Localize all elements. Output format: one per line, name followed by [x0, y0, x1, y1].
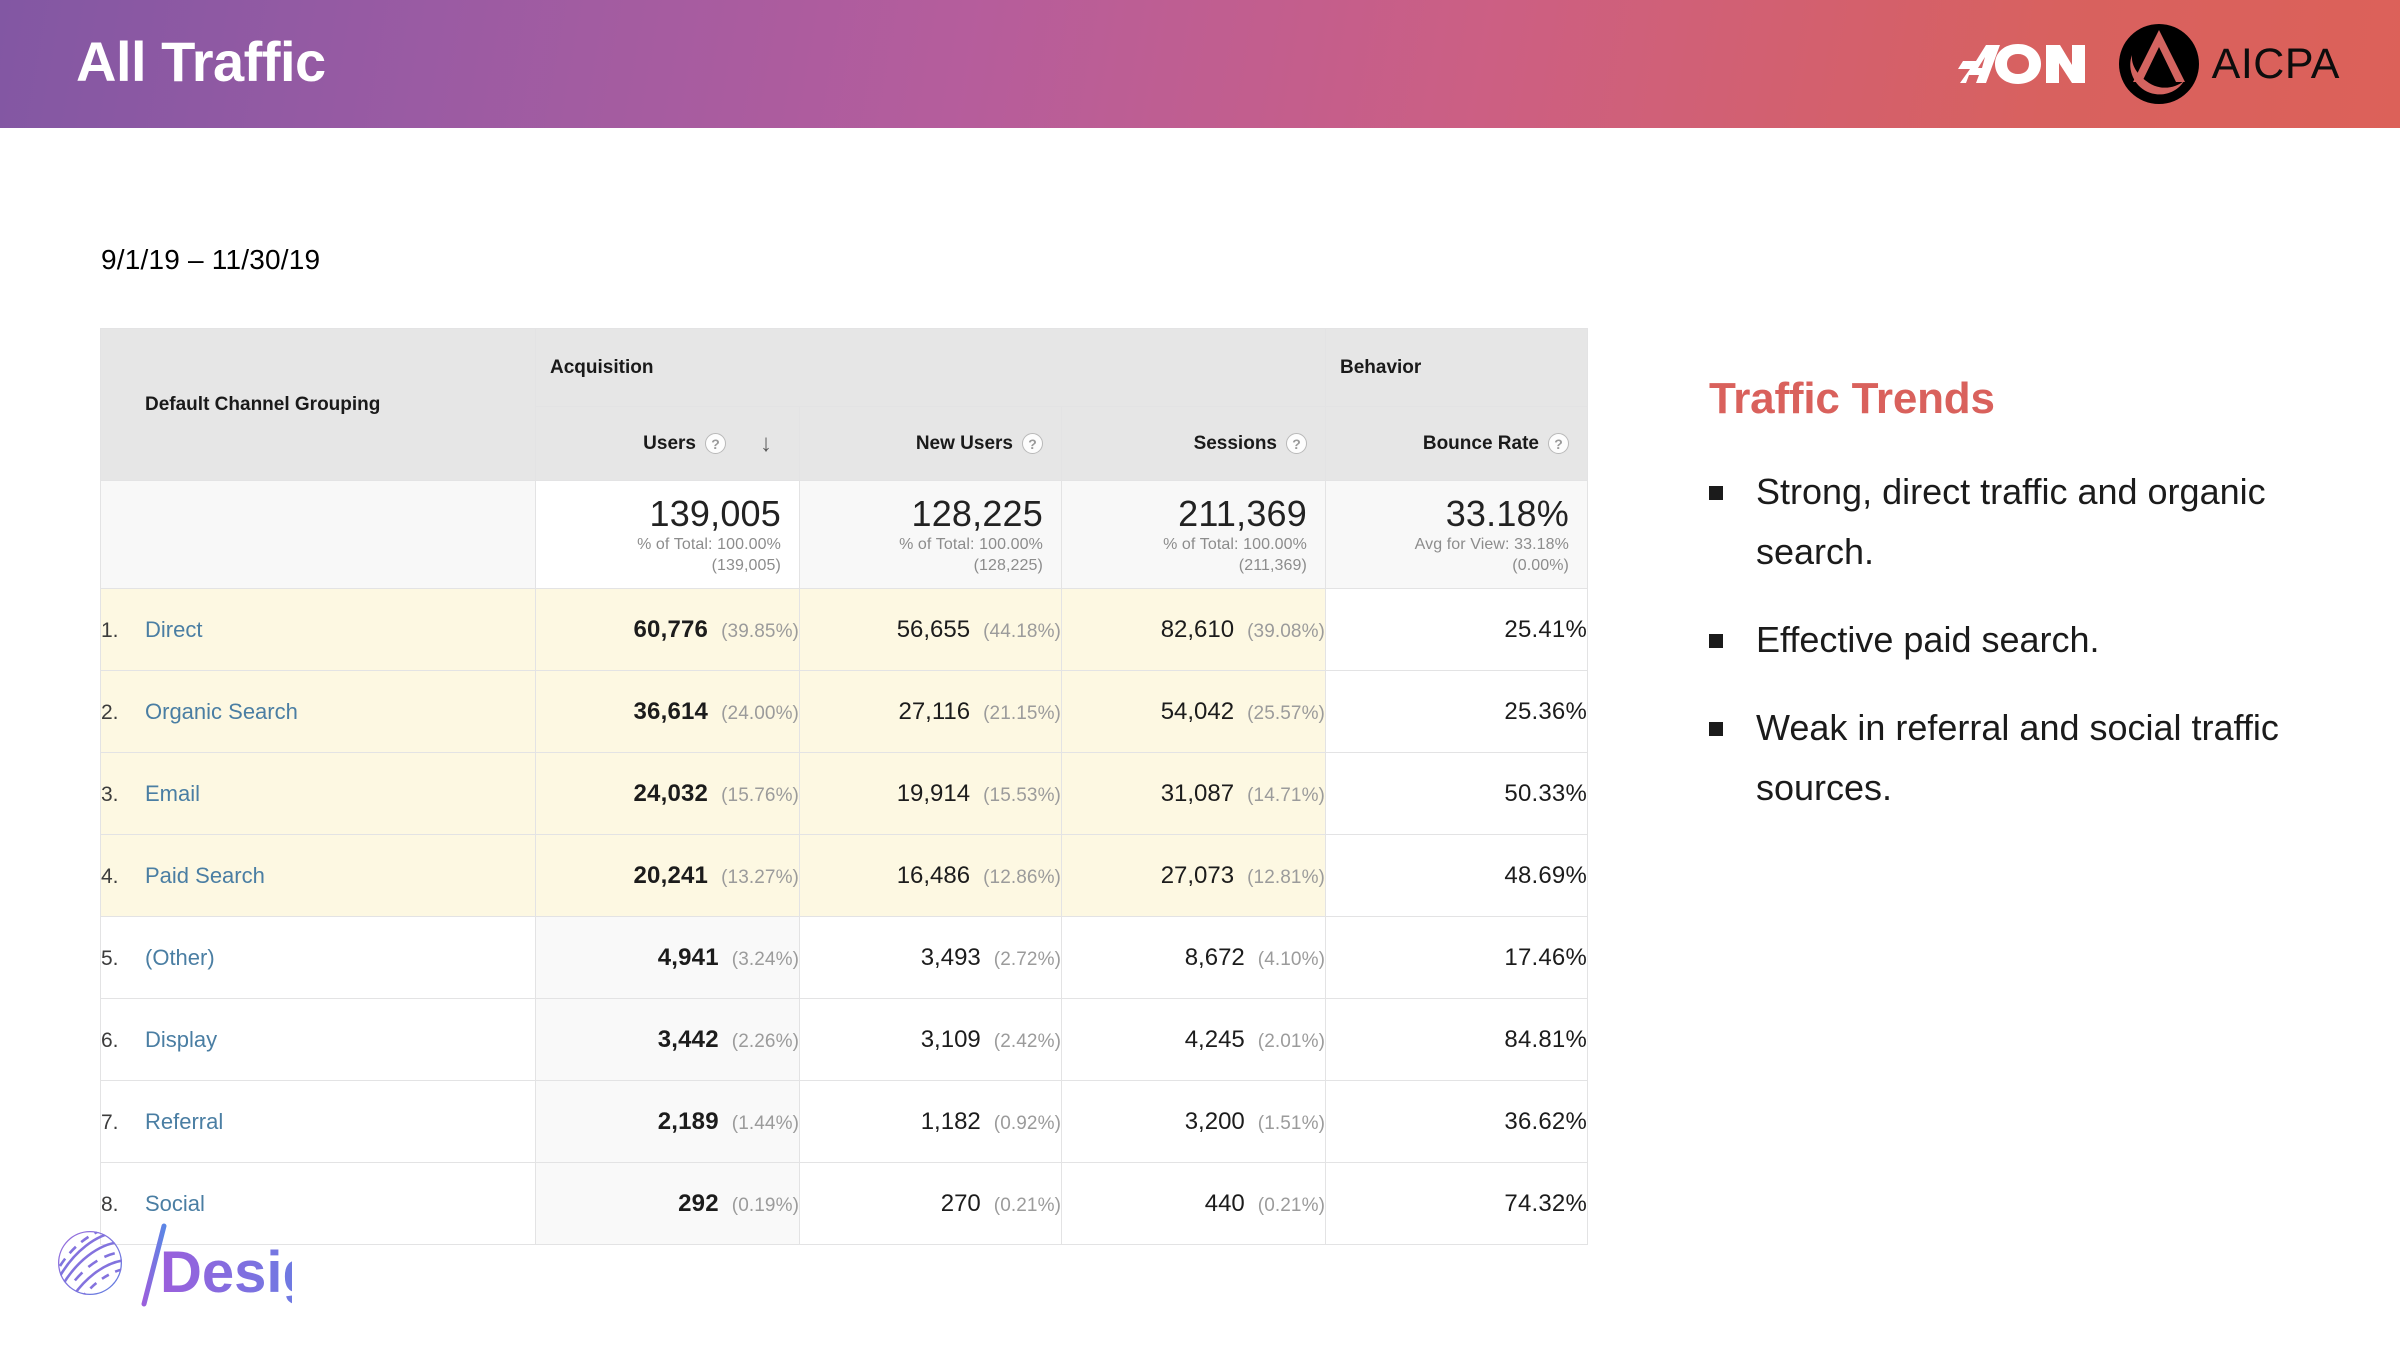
row-bounce-rate-cell: 74.32%	[1326, 1163, 1588, 1245]
table-row: 5.(Other)4,941(3.24%)3,493(2.72%)8,672(4…	[101, 917, 1588, 999]
row-users-cell-value: 292	[678, 1190, 719, 1217]
row-users-cell-percent: (13.27%)	[721, 867, 799, 888]
row-sessions-cell-value: 27,073	[1161, 862, 1234, 889]
row-bounce-rate-value: 17.46%	[1504, 944, 1587, 971]
row-users-cell-value: 60,776	[633, 616, 708, 643]
help-icon[interactable]: ?	[1286, 433, 1307, 454]
column-group-behavior: Behavior	[1326, 329, 1588, 407]
column-header-bounce-rate[interactable]: Bounce Rate ?	[1326, 407, 1588, 481]
row-rank: 4.	[101, 865, 145, 889]
square-bullet-icon	[1709, 486, 1723, 500]
column-header-channel-grouping[interactable]: Default Channel Grouping	[101, 329, 536, 481]
totals-new-users-cell: 128,225 % of Total: 100.00% (128,225)	[800, 481, 1062, 589]
totals-bounce-rate-abs: (0.00%)	[1336, 555, 1569, 576]
row-channel-cell: 7.Referral	[101, 1081, 536, 1163]
row-channel-cell: 4.Paid Search	[101, 835, 536, 917]
design-logo: Design	[52, 1218, 292, 1308]
row-bounce-rate-value: 25.41%	[1504, 616, 1587, 643]
help-icon[interactable]: ?	[1548, 433, 1569, 454]
channel-link[interactable]: Organic Search	[145, 699, 298, 724]
totals-new-users-abs: (128,225)	[810, 555, 1043, 576]
table-row: 4.Paid Search20,241(13.27%)16,486(12.86%…	[101, 835, 1588, 917]
table-row: 7.Referral2,189(1.44%)1,182(0.92%)3,200(…	[101, 1081, 1588, 1163]
totals-users-abs: (139,005)	[546, 555, 781, 576]
row-bounce-rate-cell: 25.41%	[1326, 589, 1588, 671]
list-item: Strong, direct traffic and organic searc…	[1709, 462, 2329, 582]
row-channel-cell: 2.Organic Search	[101, 671, 536, 753]
row-new-users-cell: 1,182(0.92%)	[800, 1081, 1062, 1163]
table-totals-row: 139,005 % of Total: 100.00% (139,005) 12…	[101, 481, 1588, 589]
aicpa-logo: AICPA	[2116, 21, 2340, 107]
row-users-cell: 4,941(3.24%)	[536, 917, 800, 999]
row-sessions-cell: 440(0.21%)	[1062, 1163, 1326, 1245]
list-item: Effective paid search.	[1709, 610, 2329, 670]
row-bounce-rate-cell: 17.46%	[1326, 917, 1588, 999]
row-sessions-cell-percent: (4.10%)	[1258, 949, 1325, 970]
row-new-users-cell-percent: (2.42%)	[994, 1031, 1061, 1052]
list-item: Weak in referral and social traffic sour…	[1709, 698, 2329, 818]
row-bounce-rate-cell: 48.69%	[1326, 835, 1588, 917]
row-users-cell-percent: (0.19%)	[732, 1195, 799, 1216]
row-new-users-cell: 56,655(44.18%)	[800, 589, 1062, 671]
row-rank: 7.	[101, 1111, 145, 1135]
row-users-cell-value: 36,614	[633, 698, 708, 725]
row-sessions-cell: 3,200(1.51%)	[1062, 1081, 1326, 1163]
row-sessions-cell-value: 3,200	[1185, 1108, 1245, 1135]
totals-sessions-pct: % of Total: 100.00%	[1072, 534, 1307, 555]
row-new-users-cell-percent: (12.86%)	[983, 867, 1061, 888]
row-bounce-rate-value: 36.62%	[1504, 1108, 1587, 1135]
list-item-text: Strong, direct traffic and organic searc…	[1756, 462, 2329, 582]
row-sessions-cell-percent: (25.57%)	[1247, 703, 1325, 724]
row-sessions-cell: 4,245(2.01%)	[1062, 999, 1326, 1081]
page-title: All Traffic	[76, 26, 326, 98]
row-sessions-cell-percent: (39.08%)	[1247, 621, 1325, 642]
header-logo-group: AICPA	[1956, 0, 2340, 128]
row-users-cell-percent: (24.00%)	[721, 703, 799, 724]
row-channel-cell: 1.Direct	[101, 589, 536, 671]
row-rank: 3.	[101, 783, 145, 807]
row-users-cell-percent: (2.26%)	[732, 1031, 799, 1052]
row-bounce-rate-value: 48.69%	[1504, 862, 1587, 889]
row-new-users-cell-value: 3,493	[921, 944, 981, 971]
row-bounce-rate-cell: 84.81%	[1326, 999, 1588, 1081]
table-row: 1.Direct60,776(39.85%)56,655(44.18%)82,6…	[101, 589, 1588, 671]
column-header-sessions[interactable]: Sessions ?	[1062, 407, 1326, 481]
row-bounce-rate-cell: 50.33%	[1326, 753, 1588, 835]
row-users-cell-value: 24,032	[633, 780, 708, 807]
totals-users-value: 139,005	[546, 494, 781, 534]
totals-users-cell: 139,005 % of Total: 100.00% (139,005)	[536, 481, 800, 589]
row-users-cell-percent: (1.44%)	[732, 1113, 799, 1134]
row-new-users-cell-percent: (0.21%)	[994, 1195, 1061, 1216]
row-new-users-cell-value: 56,655	[897, 616, 970, 643]
list-item-text: Weak in referral and social traffic sour…	[1756, 698, 2329, 818]
row-bounce-rate-cell: 36.62%	[1326, 1081, 1588, 1163]
column-header-new-users-label: New Users	[916, 433, 1013, 455]
row-sessions-cell-percent: (12.81%)	[1247, 867, 1325, 888]
row-sessions-cell-value: 82,610	[1161, 616, 1234, 643]
totals-bounce-rate-value: 33.18%	[1336, 494, 1569, 534]
row-sessions-cell-value: 440	[1205, 1190, 1245, 1217]
channel-link[interactable]: Direct	[145, 617, 202, 642]
row-sessions-cell: 27,073(12.81%)	[1062, 835, 1326, 917]
row-new-users-cell: 19,914(15.53%)	[800, 753, 1062, 835]
table-row: 3.Email24,032(15.76%)19,914(15.53%)31,08…	[101, 753, 1588, 835]
row-new-users-cell: 270(0.21%)	[800, 1163, 1062, 1245]
channel-link[interactable]: Email	[145, 781, 200, 806]
row-new-users-cell-percent: (44.18%)	[983, 621, 1061, 642]
totals-bounce-rate-avg: Avg for View: 33.18%	[1336, 534, 1569, 555]
row-bounce-rate-cell: 25.36%	[1326, 671, 1588, 753]
row-users-cell: 36,614(24.00%)	[536, 671, 800, 753]
table-row: 6.Display3,442(2.26%)3,109(2.42%)4,245(2…	[101, 999, 1588, 1081]
help-icon[interactable]: ?	[1022, 433, 1043, 454]
row-users-cell: 60,776(39.85%)	[536, 589, 800, 671]
channel-link[interactable]: Social	[145, 1191, 205, 1216]
aon-logo	[1956, 37, 2088, 91]
design-logo-text: Design	[160, 1240, 292, 1305]
traffic-table: Default Channel Grouping Acquisition Beh…	[100, 328, 1588, 1245]
row-users-cell-value: 3,442	[658, 1026, 719, 1053]
row-sessions-cell-value: 31,087	[1161, 780, 1234, 807]
traffic-trends-list: Strong, direct traffic and organic searc…	[1709, 462, 2329, 818]
row-users-cell-value: 2,189	[658, 1108, 719, 1135]
row-users-cell: 3,442(2.26%)	[536, 999, 800, 1081]
row-sessions-cell-percent: (0.21%)	[1258, 1195, 1325, 1216]
row-rank: 8.	[101, 1193, 145, 1217]
row-sessions-cell: 8,672(4.10%)	[1062, 917, 1326, 999]
row-sessions-cell-percent: (2.01%)	[1258, 1031, 1325, 1052]
column-group-acquisition: Acquisition	[536, 329, 1326, 407]
square-bullet-icon	[1709, 722, 1723, 736]
row-new-users-cell-value: 16,486	[897, 862, 970, 889]
slide: All Traffic AICPA	[0, 0, 2400, 1350]
row-bounce-rate-value: 50.33%	[1504, 780, 1587, 807]
aicpa-wordmark: AICPA	[2212, 43, 2340, 86]
row-rank: 5.	[101, 947, 145, 971]
row-new-users-cell-percent: (15.53%)	[983, 785, 1061, 806]
row-users-cell-value: 4,941	[658, 944, 719, 971]
row-channel-cell: 3.Email	[101, 753, 536, 835]
list-item-text: Effective paid search.	[1756, 610, 2329, 670]
row-sessions-cell: 31,087(14.71%)	[1062, 753, 1326, 835]
column-header-users[interactable]: Users ? ↓	[536, 407, 800, 481]
row-users-cell-value: 20,241	[633, 862, 708, 889]
channel-link[interactable]: Paid Search	[145, 863, 265, 888]
column-header-users-label: Users	[643, 433, 696, 455]
row-new-users-cell: 27,116(21.15%)	[800, 671, 1062, 753]
channel-link[interactable]: Display	[145, 1027, 217, 1052]
row-sessions-cell-percent: (14.71%)	[1247, 785, 1325, 806]
totals-sessions-value: 211,369	[1072, 494, 1307, 534]
row-new-users-cell-value: 3,109	[921, 1026, 981, 1053]
table-group-header-row: Default Channel Grouping Acquisition Beh…	[101, 329, 1588, 407]
totals-new-users-pct: % of Total: 100.00%	[810, 534, 1043, 555]
row-bounce-rate-value: 25.36%	[1504, 698, 1587, 725]
row-new-users-cell-percent: (2.72%)	[994, 949, 1061, 970]
row-sessions-cell: 82,610(39.08%)	[1062, 589, 1326, 671]
row-new-users-cell-value: 19,914	[897, 780, 970, 807]
row-users-cell-percent: (39.85%)	[721, 621, 799, 642]
traffic-trends-title: Traffic Trends	[1709, 372, 2329, 426]
row-rank: 2.	[101, 701, 145, 725]
row-users-cell: 292(0.19%)	[536, 1163, 800, 1245]
row-sessions-cell-value: 8,672	[1185, 944, 1245, 971]
row-rank: 6.	[101, 1029, 145, 1053]
row-new-users-cell: 3,109(2.42%)	[800, 999, 1062, 1081]
totals-bounce-rate-cell: 33.18% Avg for View: 33.18% (0.00%)	[1326, 481, 1588, 589]
row-new-users-cell-value: 270	[941, 1190, 981, 1217]
row-new-users-cell-percent: (0.92%)	[994, 1113, 1061, 1134]
row-users-cell-percent: (3.24%)	[732, 949, 799, 970]
row-channel-cell: 5.(Other)	[101, 917, 536, 999]
row-users-cell: 24,032(15.76%)	[536, 753, 800, 835]
totals-sessions-cell: 211,369 % of Total: 100.00% (211,369)	[1062, 481, 1326, 589]
channel-link[interactable]: Referral	[145, 1109, 223, 1134]
channel-link[interactable]: (Other)	[145, 945, 215, 970]
row-channel-cell: 6.Display	[101, 999, 536, 1081]
column-header-new-users[interactable]: New Users ?	[800, 407, 1062, 481]
totals-new-users-value: 128,225	[810, 494, 1043, 534]
totals-sessions-abs: (211,369)	[1072, 555, 1307, 576]
square-bullet-icon	[1709, 634, 1723, 648]
slide-header: All Traffic AICPA	[0, 0, 2400, 128]
row-sessions-cell: 54,042(25.57%)	[1062, 671, 1326, 753]
row-users-cell: 20,241(13.27%)	[536, 835, 800, 917]
date-range-label: 9/1/19 – 11/30/19	[101, 244, 320, 276]
row-rank: 1.	[101, 619, 145, 643]
column-header-sessions-label: Sessions	[1194, 433, 1277, 455]
row-bounce-rate-value: 74.32%	[1504, 1190, 1587, 1217]
row-sessions-cell-value: 54,042	[1161, 698, 1234, 725]
row-sessions-cell-value: 4,245	[1185, 1026, 1245, 1053]
row-new-users-cell-value: 27,116	[898, 698, 970, 725]
sort-descending-icon[interactable]: ↓	[755, 432, 777, 456]
table-row: 8.Social292(0.19%)270(0.21%)440(0.21%)74…	[101, 1163, 1588, 1245]
row-new-users-cell-value: 1,182	[921, 1108, 981, 1135]
totals-users-pct: % of Total: 100.00%	[546, 534, 781, 555]
table-row: 2.Organic Search36,614(24.00%)27,116(21.…	[101, 671, 1588, 753]
traffic-trends-panel: Traffic Trends Strong, direct traffic an…	[1709, 372, 2329, 846]
row-users-cell: 2,189(1.44%)	[536, 1081, 800, 1163]
row-users-cell-percent: (15.76%)	[721, 785, 799, 806]
help-icon[interactable]: ?	[705, 433, 726, 454]
column-header-bounce-rate-label: Bounce Rate	[1423, 433, 1539, 455]
totals-empty-cell	[101, 481, 536, 589]
row-new-users-cell: 3,493(2.72%)	[800, 917, 1062, 999]
row-new-users-cell: 16,486(12.86%)	[800, 835, 1062, 917]
row-bounce-rate-value: 84.81%	[1504, 1026, 1587, 1053]
row-new-users-cell-percent: (21.15%)	[983, 703, 1061, 724]
row-sessions-cell-percent: (1.51%)	[1258, 1113, 1325, 1134]
